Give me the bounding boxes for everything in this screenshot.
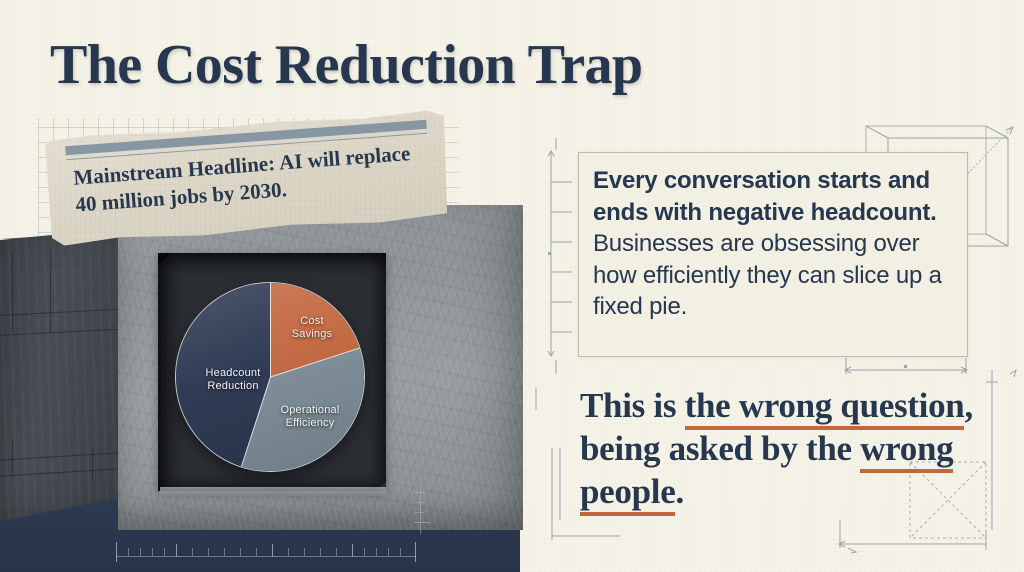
statement-emphasis-wrong-question: the wrong question [685,386,965,430]
niche-shelf [160,487,386,496]
callout-box: Every conversation starts and ends with … [578,152,968,357]
measurement-ruler [116,542,416,564]
page-title: The Cost Reduction Trap [50,33,642,97]
closing-statement: This is the wrong question, being asked … [580,384,1000,513]
pie-label-operational-efficiency: Operational Efficiency [268,404,352,430]
statement-part-1: This is [580,386,685,425]
callout-bold-lead: Every conversation starts and ends with … [593,167,937,226]
pie-chart: Headcount Reduction Cost Savings Operati… [176,283,364,471]
slide-canvas: The Cost Reduction Trap Headc [0,0,1024,572]
statement-part-3: . [675,472,683,511]
callout-paragraph: Every conversation starts and ends with … [593,165,953,323]
callout-body: Businesses are obsessing over how effici… [593,230,942,320]
pie-label-headcount-reduction: Headcount Reduction [190,367,276,393]
ruler-vertical-guide [420,488,421,534]
pie-label-cost-savings: Cost Savings [281,315,343,341]
